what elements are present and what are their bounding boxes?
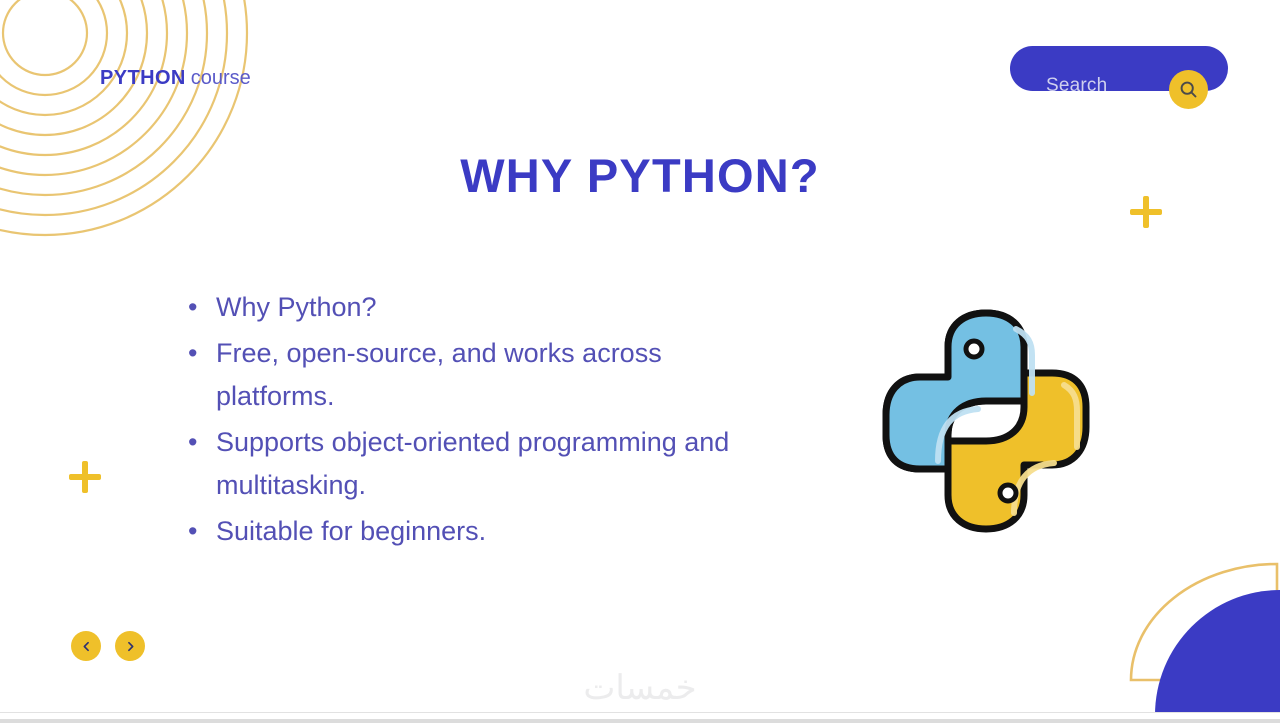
python-logo-icon xyxy=(878,305,1094,537)
search-icon[interactable] xyxy=(1169,70,1208,109)
bullet-text: Suitable for beginners. xyxy=(216,510,748,554)
page-title: WHY PYTHON? xyxy=(0,148,1280,204)
bullet-marker: • xyxy=(188,510,216,554)
watermark: خمسات xyxy=(0,668,1280,709)
bullet-marker: • xyxy=(188,332,216,376)
bullet-list: • Why Python? • Free, open-source, and w… xyxy=(188,286,748,555)
concentric-arcs-decoration xyxy=(0,0,260,248)
chevron-right-icon[interactable] xyxy=(115,631,145,661)
list-item: • Suitable for beginners. xyxy=(188,510,748,554)
logo-text-python: PYTHON xyxy=(100,67,186,89)
logo-text-course: course xyxy=(191,67,251,89)
bullet-marker: • xyxy=(188,421,216,465)
brand-logo: PYTHONcourse xyxy=(100,68,251,88)
bullet-text: Supports object-oriented programming and… xyxy=(216,421,748,508)
bullet-marker: • xyxy=(188,286,216,330)
plus-icon xyxy=(1128,194,1164,230)
slide-navigation xyxy=(71,631,145,661)
plus-icon xyxy=(67,459,103,495)
search-clip-mask xyxy=(1000,91,1160,117)
list-item: • Why Python? xyxy=(188,286,748,330)
bullet-text: Free, open-source, and works across plat… xyxy=(216,332,748,419)
slide-canvas: PYTHONcourse Search WHY PYTHON? • Why Py… xyxy=(0,0,1280,723)
list-item: • Supports object-oriented programming a… xyxy=(188,421,748,508)
list-item: • Free, open-source, and works across pl… xyxy=(188,332,748,419)
chevron-left-icon[interactable] xyxy=(71,631,101,661)
bullet-text: Why Python? xyxy=(216,286,748,330)
page-bottom-shadow xyxy=(0,719,1280,723)
